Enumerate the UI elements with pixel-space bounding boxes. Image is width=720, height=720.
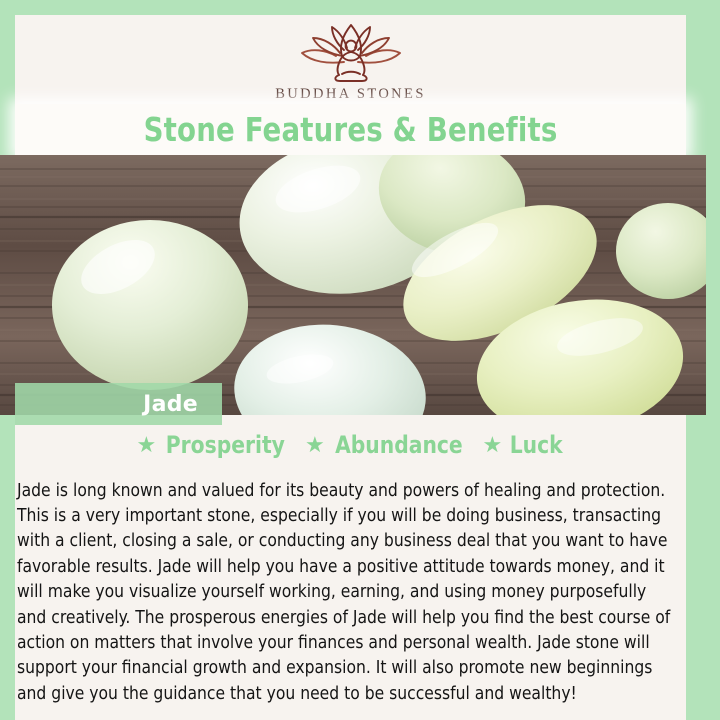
stone-name-label: Jade (143, 392, 198, 417)
star-icon: ★ (305, 434, 325, 456)
frame-accent-top (0, 0, 720, 15)
page-title: Stone Features & Benefits (144, 110, 558, 149)
star-icon: ★ (137, 434, 157, 456)
brand-header: BUDDHA STONES (15, 14, 686, 108)
title-band: Stone Features & Benefits (15, 104, 686, 155)
benefits-row: ★ Prosperity ★ Abundance ★ Luck (15, 428, 686, 462)
benefit-item-abundance: ★ Abundance (305, 431, 467, 459)
benefit-label: Abundance (335, 431, 463, 459)
stone-description: Jade is long known and valued for its be… (17, 479, 673, 708)
star-icon: ★ (482, 434, 502, 456)
stone-photo (0, 155, 706, 415)
benefit-label: Prosperity (166, 431, 285, 459)
stone-name-band: Jade (15, 383, 222, 425)
lotus-meditation-figure-icon (292, 22, 410, 84)
stone-benefits-infographic: BUDDHA STONES Stone Features & Benefits (0, 0, 720, 720)
benefit-label: Luck (510, 431, 563, 459)
benefit-item-prosperity: ★ Prosperity (137, 431, 289, 459)
benefit-item-luck: ★ Luck (482, 431, 564, 459)
brand-name: BUDDHA STONES (275, 86, 426, 103)
